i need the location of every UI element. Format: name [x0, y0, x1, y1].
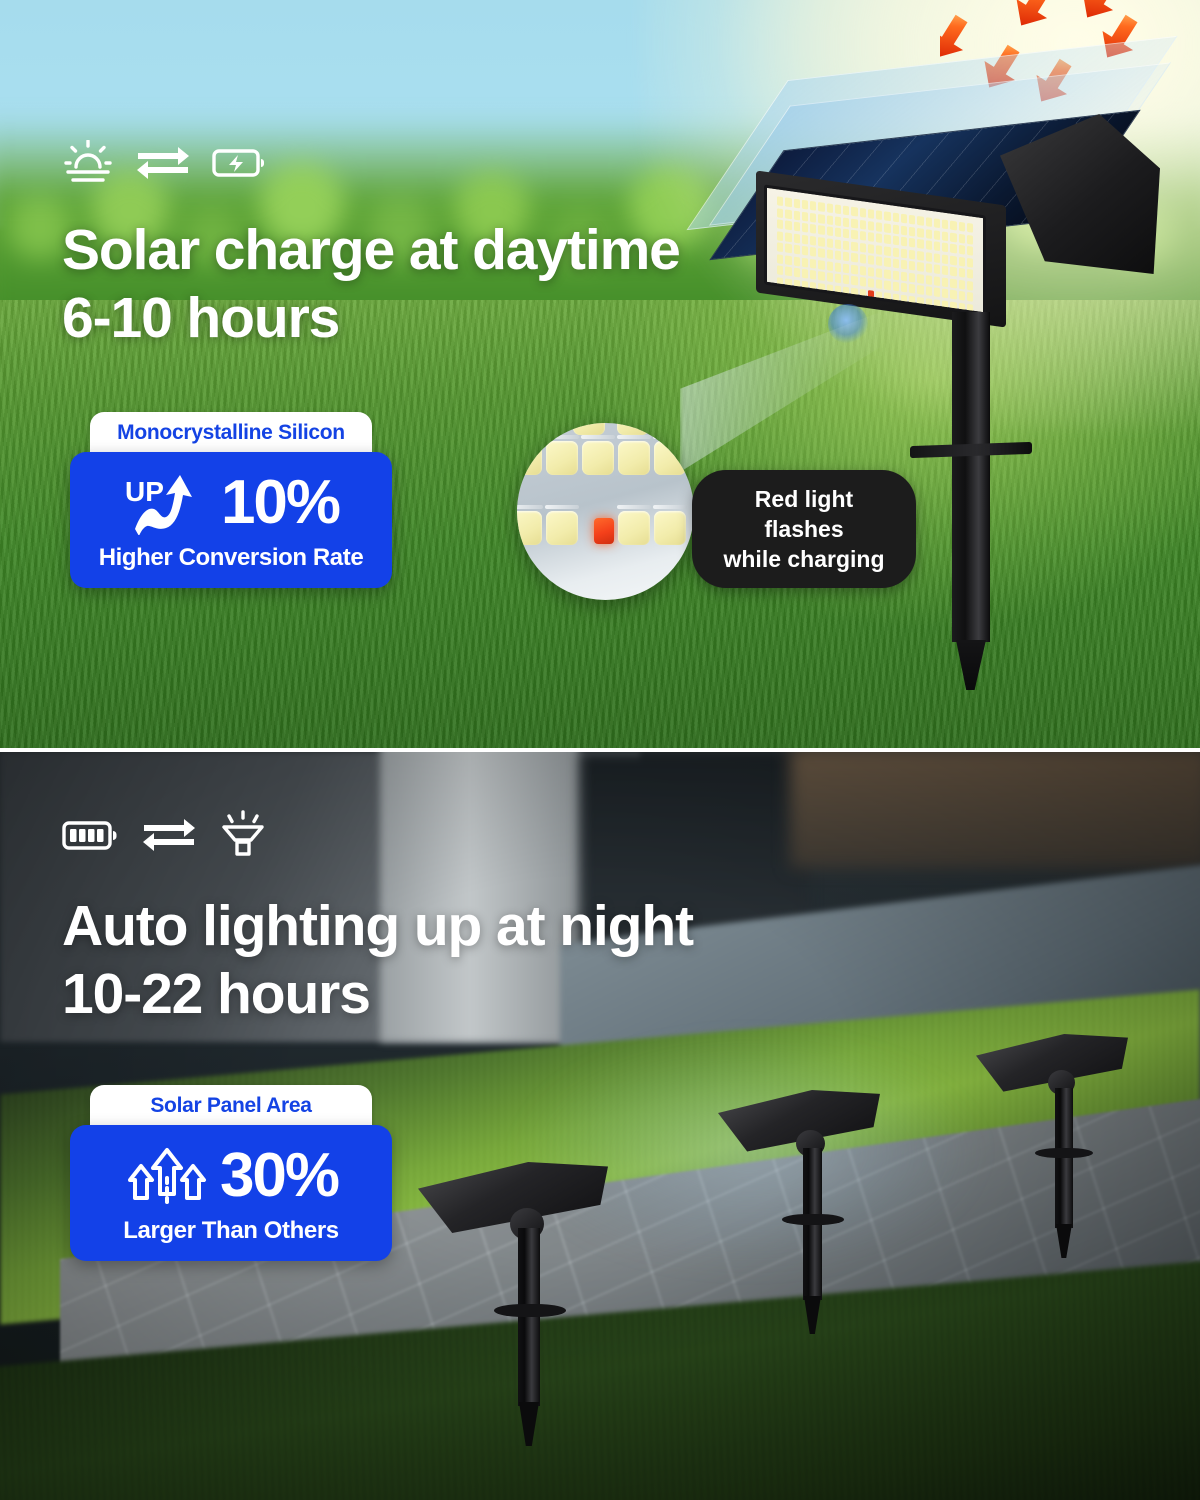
- badge-value: 30%: [220, 1145, 338, 1207]
- led-chip: [529, 423, 561, 435]
- spotlight-unit-back: [976, 1034, 1176, 1324]
- led-wire: [581, 435, 615, 439]
- led-array: [777, 196, 973, 304]
- led-wire: [517, 505, 543, 509]
- triple-up-arrows-icon: [124, 1144, 210, 1208]
- solar-panel-area-badge: Solar Panel Area 30% Larger Than Others: [70, 1085, 392, 1261]
- exchange-arrows-icon: [136, 146, 190, 180]
- badge-sub-label: Higher Conversion Rate: [70, 544, 392, 572]
- up-trend-arrow-icon: UP: [123, 471, 211, 535]
- spotlight-unit-front: [418, 1162, 658, 1500]
- spotlight-stake: [1056, 1224, 1072, 1258]
- led-chip: [517, 511, 542, 545]
- led-chip: [654, 511, 686, 545]
- badge-pill-label: Solar Panel Area: [90, 1085, 372, 1127]
- led-wire: [545, 505, 579, 509]
- led-wire: [517, 435, 543, 439]
- spotlight-fin: [1035, 1148, 1093, 1158]
- led-chip: [617, 423, 649, 435]
- battery-full-icon: [62, 818, 120, 852]
- badge-prefix-label: UP: [125, 476, 164, 507]
- led-wire: [545, 435, 579, 439]
- spotlight-icon: [218, 810, 268, 860]
- exchange-arrows-icon: [142, 818, 196, 852]
- battery-charging-icon: [212, 146, 268, 180]
- spotlight-pole: [1055, 1088, 1073, 1228]
- badge-sub-label: Larger Than Others: [70, 1217, 392, 1245]
- panel-solar-charge-day: Solar charge at daytime 6-10 hours Monoc…: [0, 0, 1200, 748]
- spotlight-stake: [804, 1296, 821, 1334]
- panel-auto-lighting-night: Auto lighting up at night 10-22 hours So…: [0, 752, 1200, 1500]
- led-chip: [582, 441, 614, 475]
- day-icon-row: [62, 140, 268, 186]
- conversion-rate-badge: Monocrystalline Silicon UP 10% Higher Co…: [70, 412, 392, 588]
- led-chip: [546, 511, 578, 545]
- sunrise-icon: [62, 140, 114, 186]
- red-indicator-led: [594, 518, 614, 544]
- mounting-pole: [952, 312, 990, 642]
- led-chip: [618, 441, 650, 475]
- led-chip: [618, 511, 650, 545]
- led-wire: [617, 505, 651, 509]
- pole-fin: [910, 442, 1032, 458]
- badge-pill-label: Monocrystalline Silicon: [90, 412, 372, 454]
- red-light-callout: Red light flashes while charging: [692, 470, 916, 588]
- badge-value-row: 30%: [70, 1143, 392, 1209]
- badge-body: 30% Larger Than Others: [70, 1125, 392, 1261]
- led-chip: [546, 441, 578, 475]
- night-headline: Auto lighting up at night 10-22 hours: [62, 892, 693, 1028]
- badge-value-row: UP 10%: [70, 470, 392, 536]
- led-wire: [653, 435, 687, 439]
- led-chip: [573, 423, 605, 435]
- led-wire: [617, 435, 651, 439]
- product-feature-infographic: Solar charge at daytime 6-10 hours Monoc…: [0, 0, 1200, 1500]
- day-headline: Solar charge at daytime 6-10 hours: [62, 216, 680, 352]
- badge-value: 10%: [221, 472, 339, 534]
- badge-body: UP 10% Higher Conversion Rate: [70, 452, 392, 588]
- led-board-magnifier: [517, 423, 694, 600]
- spotlight-pole: [518, 1228, 540, 1406]
- spotlight-unit-middle: [718, 1090, 928, 1390]
- spotlight-fin: [494, 1304, 566, 1317]
- night-icon-row: [62, 810, 268, 860]
- led-chip: [517, 441, 542, 475]
- spotlight-stake: [519, 1402, 539, 1446]
- led-wire: [653, 505, 687, 509]
- led-chip: [654, 441, 686, 475]
- spotlight-fin: [782, 1214, 844, 1225]
